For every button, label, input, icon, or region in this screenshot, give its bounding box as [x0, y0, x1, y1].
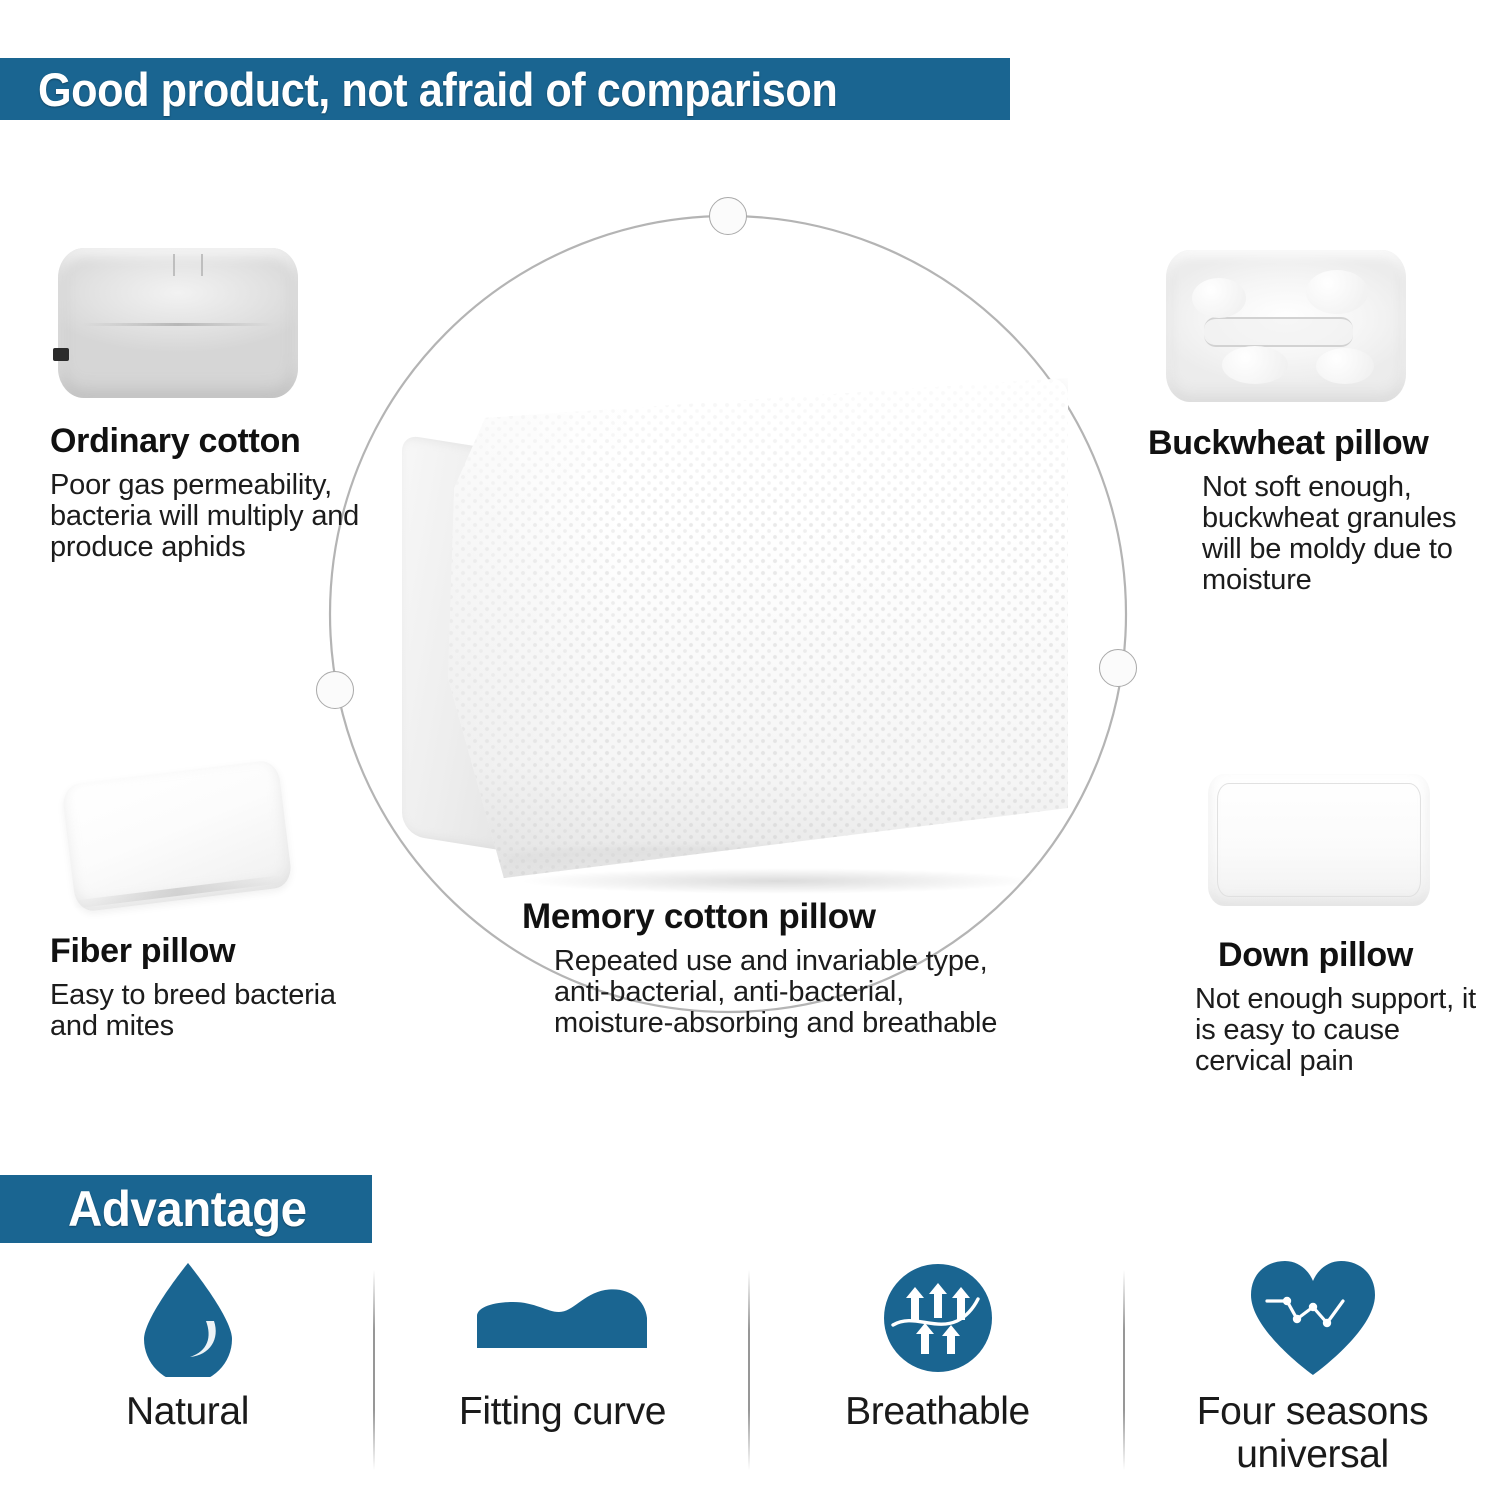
advantage-label: Breathable	[845, 1390, 1030, 1433]
label-title: Ordinary cotton	[50, 422, 370, 460]
label-title: Buckwheat pillow	[1148, 424, 1478, 462]
headline-banner: Good product, not afraid of comparison	[0, 58, 1010, 120]
pillow-crease	[173, 254, 203, 276]
label-title: Fiber pillow	[50, 932, 380, 970]
label-title: Memory cotton pillow	[522, 898, 992, 936]
ring-node-right	[1099, 649, 1137, 687]
advantage-label: Four seasons universal	[1125, 1390, 1500, 1476]
label-desc: Easy to breed bacteria and mites	[50, 980, 380, 1042]
label-memory-cotton-pillow: Memory cotton pillow Repeated use and in…	[522, 898, 992, 1039]
advantage-item-natural: Natural	[0, 1262, 375, 1500]
pillow-piping	[1217, 783, 1421, 897]
airflow-arrows-circle-icon	[879, 1262, 997, 1374]
buckwheat-pillow-photo	[1166, 250, 1406, 402]
pillow-brand-tag	[53, 348, 69, 361]
pillow-shading	[448, 378, 1068, 878]
contour-pillow-icon	[473, 1262, 653, 1374]
advantage-icon-row: Natural Fitting curve	[0, 1262, 1500, 1500]
advantage-label: Fitting curve	[459, 1390, 666, 1433]
advantage-banner-text: Advantage	[68, 1184, 307, 1234]
label-buckwheat-pillow: Buckwheat pillow Not soft enough, buckwh…	[1148, 424, 1478, 596]
advantage-item-four-seasons: Four seasons universal	[1125, 1262, 1500, 1500]
label-fiber-pillow: Fiber pillow Easy to breed bacteria and …	[50, 932, 380, 1042]
label-desc: Not enough support, it is easy to cause …	[1195, 984, 1495, 1077]
label-desc: Not soft enough, buckwheat granules will…	[1202, 472, 1478, 596]
advantage-banner: Advantage	[0, 1172, 376, 1246]
pillow-lump	[1306, 270, 1368, 314]
heart-heartbeat-icon	[1243, 1262, 1383, 1374]
advantage-item-fitting-curve: Fitting curve	[375, 1262, 750, 1500]
label-desc: Repeated use and invariable type, anti-b…	[554, 946, 1004, 1039]
pillow-lump	[1192, 278, 1246, 318]
water-droplet-icon	[136, 1262, 240, 1374]
advantage-item-breathable: Breathable	[750, 1262, 1125, 1500]
pillow-lump	[1222, 346, 1288, 384]
infographic-canvas: Good product, not afraid of comparison	[0, 0, 1500, 1500]
pillow-lump	[1316, 348, 1374, 384]
down-pillow-photo	[1208, 774, 1430, 906]
pillow-center-channel	[1204, 317, 1353, 347]
label-ordinary-cotton: Ordinary cotton Poor gas permeability, b…	[50, 422, 370, 563]
label-title: Down pillow	[1218, 936, 1495, 974]
pillow-drop-shadow	[518, 868, 1038, 894]
ordinary-cotton-pillow-photo	[58, 248, 298, 398]
headline-text: Good product, not afraid of comparison	[38, 66, 837, 113]
label-desc: Poor gas permeability, bacteria will mul…	[50, 470, 370, 563]
advantage-label: Natural	[126, 1390, 249, 1433]
pillow-seam	[82, 323, 274, 326]
fiber-pillow-photo	[62, 762, 292, 912]
label-down-pillow: Down pillow Not enough support, it is ea…	[1195, 936, 1495, 1077]
pillow-front-face	[448, 378, 1068, 878]
ring-node-top	[709, 197, 747, 235]
memory-foam-pillow-photo	[398, 368, 1078, 888]
ring-node-left	[316, 671, 354, 709]
